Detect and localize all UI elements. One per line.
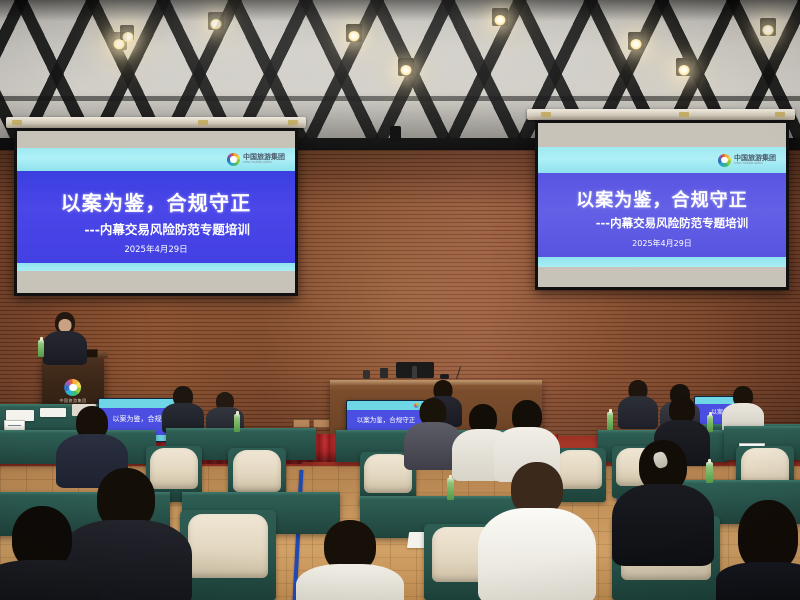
chair-pad [188,514,269,579]
water-bottle [234,414,240,432]
slide-brand-logo: 中国旅游集团 CHINA TOURISM GROUP [718,154,776,167]
attendee [716,500,800,600]
attendee-body [0,560,102,600]
screen-bottom-margin [17,271,295,293]
ceiling-spotlight-icon [676,58,692,76]
attendee [618,380,658,428]
slide-content: 中国旅游集团 CHINA TOURISM GROUP 以案为鉴，合规守正 ---… [538,147,786,267]
slide-header-band: 中国旅游集团 CHINA TOURISM GROUP [538,147,786,173]
roller-knob [12,120,22,125]
slide-body: 以案为鉴，合规守正 ---内幕交易风险防范专题培训 2025年4月29日 [17,171,295,263]
name-card-line [8,425,21,427]
roller-knob [541,112,551,117]
desk-bottle [412,366,417,379]
attendee-body [716,562,800,600]
slide-body: 以案为鉴，合规守正 ---内幕交易风险防范专题培训 2025年4月29日 [538,173,786,257]
slide-logo-en: CHINA TOURISM GROUP [734,163,773,166]
roller-knob [288,120,298,125]
china-tourism-group-logo-icon [64,379,81,396]
ceiling-spotlight-icon [492,8,508,26]
screen-top-margin [538,123,786,147]
attendee [478,462,596,600]
attendee-body [296,564,404,600]
slide-header-band: 中国旅游集团 CHINA TOURISM GROUP [17,148,295,171]
water-bottle [38,340,44,357]
ceiling-speaker-icon [390,126,401,142]
attendee [0,506,102,600]
screen-frame: 中国旅游集团 CHINA TOURISM GROUP 以案为鉴，合规守正 ---… [535,120,789,290]
attendee-body [612,484,714,566]
slide-footer-band [538,257,786,267]
screen-top-margin [17,131,295,148]
right-projection-screen[interactable]: 中国旅游集团 CHINA TOURISM GROUP 以案为鉴，合规守正 ---… [535,120,789,290]
slide-logo-en: CHINA TOURISM GROUP [243,162,282,165]
ceiling-spotlight-icon [208,12,224,30]
slide-content: 中国旅游集团 CHINA TOURISM GROUP 以案为鉴，合规守正 ---… [17,148,295,271]
slide-subtitle: ---内幕交易风险防范专题培训 [538,215,786,231]
table-top [724,426,800,430]
water-bottle [607,412,613,430]
wall-outlet [293,419,310,428]
roller-knob [775,112,785,117]
table-top [166,428,316,432]
presenter [42,312,88,364]
screen-surface: 中国旅游集团 CHINA TOURISM GROUP 以案为鉴，合规守正 ---… [538,123,786,287]
water-bottle [447,478,454,500]
slide-logo-cn: 中国旅游集团 [243,154,285,161]
slide-date: 2025年4月29日 [538,238,786,249]
screen-frame: 中国旅游集团 CHINA TOURISM GROUP 以案为鉴，合规守正 ---… [14,128,298,296]
chair-pad [233,450,282,492]
attendee-body [618,396,658,429]
table-top [182,492,340,496]
chair [180,510,276,600]
attendee [296,520,404,600]
slide-date: 2025年4月29日 [17,243,295,255]
wall-outlet [313,419,330,428]
ceiling-spotlight-icon [120,25,134,40]
presenter-body [43,331,87,365]
screen-roller-housing [527,109,795,120]
desk-cup [380,368,388,378]
desk-item [440,374,449,379]
screen-roller-housing [6,117,306,128]
screen-surface: 中国旅游集团 CHINA TOURISM GROUP 以案为鉴，合规守正 ---… [17,131,295,293]
roller-knob [198,120,208,125]
slide-logo-cn: 中国旅游集团 [734,155,776,162]
slide-title: 以案为鉴，合规守正 [17,187,295,216]
slide-subtitle: ---内幕交易风险防范专题培训 [17,219,295,238]
slide-title: 以案为鉴，合规守正 [538,186,786,212]
left-projection-screen[interactable]: 中国旅游集团 CHINA TOURISM GROUP 以案为鉴，合规守正 ---… [14,128,298,296]
desk-cup [363,370,370,379]
slide-brand-logo: 中国旅游集团 CHINA TOURISM GROUP [227,153,285,166]
attendee [162,386,204,432]
china-tourism-group-logo-icon [227,153,240,166]
attendee-body [478,508,596,600]
conference-room-photo: 中国旅游集团 CHINA TOURISM GROUP 以案为鉴，合规守正 ---… [0,0,800,600]
slide-footer-band [17,263,295,271]
ceiling-spotlight-icon [628,32,644,50]
ceiling-spotlight-icon [398,58,414,76]
china-tourism-group-logo-icon [718,154,731,167]
ceiling-spotlight-icon [346,24,362,42]
roller-knob [679,112,689,117]
ceiling-spotlight-icon [760,18,776,36]
